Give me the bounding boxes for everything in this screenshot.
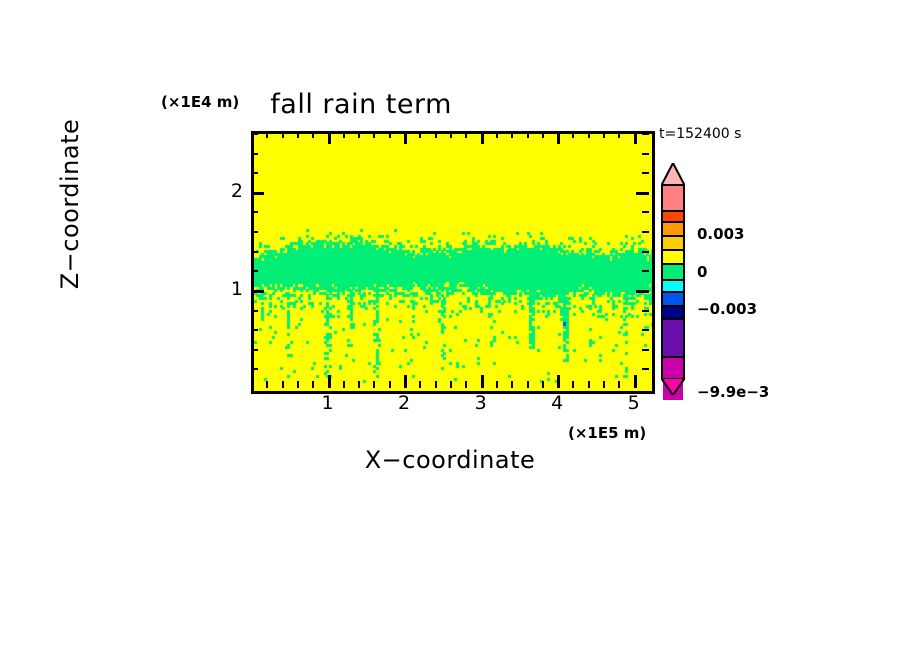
time-annotation: t=152400 s [659, 126, 741, 142]
x-minor-tick-top [450, 131, 452, 138]
x-minor-tick-top [282, 131, 284, 138]
x-minor-tick-top [511, 131, 513, 138]
colorbar-band [663, 251, 683, 265]
x-tick-label: 5 [619, 392, 649, 414]
x-minor-tick [527, 381, 529, 388]
x-minor-tick-top [435, 131, 437, 138]
colorbar[interactable] [661, 184, 685, 380]
x-major-tick [404, 375, 407, 388]
x-minor-tick-top [297, 131, 299, 138]
x-minor-tick [435, 381, 437, 388]
y-minor-tick [251, 349, 258, 351]
x-minor-tick-top [618, 131, 620, 138]
x-minor-tick-top [465, 131, 467, 138]
x-minor-tick-top [358, 131, 360, 138]
heatmap-canvas [254, 134, 652, 391]
x-axis-title: X−coordinate [251, 446, 649, 474]
x-minor-tick [419, 381, 421, 388]
x-minor-tick [312, 381, 314, 388]
colorbar-tick-label: 0 [697, 263, 707, 281]
x-minor-tick [572, 381, 574, 388]
x-minor-tick [511, 381, 513, 388]
x-major-tick-top [328, 131, 331, 144]
x-minor-tick-top [312, 131, 314, 138]
x-minor-tick [343, 381, 345, 388]
y-minor-tick-right [642, 270, 649, 272]
x-minor-tick [266, 381, 268, 388]
y-minor-tick-right [642, 231, 649, 233]
y-minor-tick [251, 231, 258, 233]
x-minor-tick-top [419, 131, 421, 138]
x-tick-label: 4 [542, 392, 572, 414]
x-minor-tick [282, 381, 284, 388]
y-minor-tick [251, 211, 258, 213]
y-minor-tick-right [642, 329, 649, 331]
y-tick-label: 1 [213, 278, 243, 300]
colorbar-band [663, 293, 683, 307]
x-minor-tick-top [389, 131, 391, 138]
x-minor-tick-top [588, 131, 590, 138]
colorbar-tick-label: −0.003 [697, 300, 757, 318]
colorbar-band [663, 186, 683, 212]
x-minor-tick-top [343, 131, 345, 138]
y-major-tick-right [636, 290, 649, 293]
x-axis-unit-label: (×1E5 m) [568, 424, 646, 442]
x-major-tick [557, 375, 560, 388]
x-major-tick-top [634, 131, 637, 144]
y-minor-tick-right [642, 133, 649, 135]
x-minor-tick [618, 381, 620, 388]
x-major-tick [634, 375, 637, 388]
x-minor-tick-top [603, 131, 605, 138]
colorbar-band [663, 223, 683, 237]
y-minor-tick [251, 172, 258, 174]
x-minor-tick-top [542, 131, 544, 138]
x-minor-tick-top [373, 131, 375, 138]
x-major-tick-top [481, 131, 484, 144]
x-minor-tick [465, 381, 467, 388]
y-minor-tick [251, 251, 258, 253]
y-axis-title: Z−coordinate [56, 64, 84, 344]
colorbar-tick-label: 0.003 [697, 225, 744, 243]
y-minor-tick-right [642, 368, 649, 370]
x-minor-tick [496, 381, 498, 388]
x-minor-tick [297, 381, 299, 388]
y-minor-tick [251, 153, 258, 155]
colorbar-max-arrow [661, 163, 685, 186]
z-axis-unit-label: (×1E4 m) [161, 93, 239, 111]
x-minor-tick-top [496, 131, 498, 138]
x-minor-tick-top [527, 131, 529, 138]
colorbar-tick-label: −9.9e−3 [697, 383, 769, 401]
x-major-tick-top [557, 131, 560, 144]
y-minor-tick [251, 310, 258, 312]
colorbar-band [663, 237, 683, 251]
y-minor-tick [251, 329, 258, 331]
x-major-tick [328, 375, 331, 388]
chart-title-text: fall rain term [270, 89, 452, 120]
y-major-tick [251, 192, 264, 195]
y-minor-tick-right [642, 310, 649, 312]
x-tick-label: 1 [313, 392, 343, 414]
y-major-tick-right [636, 192, 649, 195]
y-minor-tick [251, 368, 258, 370]
colorbar-band [663, 265, 683, 281]
colorbar-band [663, 281, 683, 293]
y-minor-tick-right [642, 349, 649, 351]
y-minor-tick-right [642, 251, 649, 253]
x-minor-tick [389, 381, 391, 388]
page-title: fall rain term [0, 58, 904, 120]
y-minor-tick-right [642, 172, 649, 174]
colorbar-band [663, 307, 683, 320]
x-minor-tick-top [266, 131, 268, 138]
x-minor-tick [373, 381, 375, 388]
plot-area[interactable] [251, 131, 655, 394]
colorbar-min-arrow [661, 378, 685, 395]
y-minor-tick-right [642, 211, 649, 213]
x-minor-tick [542, 381, 544, 388]
y-minor-tick [251, 133, 258, 135]
colorbar-band [663, 212, 683, 223]
x-minor-tick [358, 381, 360, 388]
x-major-tick-top [404, 131, 407, 144]
x-tick-label: 3 [466, 392, 496, 414]
y-tick-label: 2 [213, 180, 243, 202]
x-minor-tick [450, 381, 452, 388]
x-major-tick [481, 375, 484, 388]
x-minor-tick [603, 381, 605, 388]
x-minor-tick-top [572, 131, 574, 138]
colorbar-band [663, 320, 683, 358]
y-minor-tick-right [642, 153, 649, 155]
x-tick-label: 2 [389, 392, 419, 414]
x-minor-tick [588, 381, 590, 388]
y-minor-tick [251, 270, 258, 272]
y-major-tick [251, 290, 264, 293]
